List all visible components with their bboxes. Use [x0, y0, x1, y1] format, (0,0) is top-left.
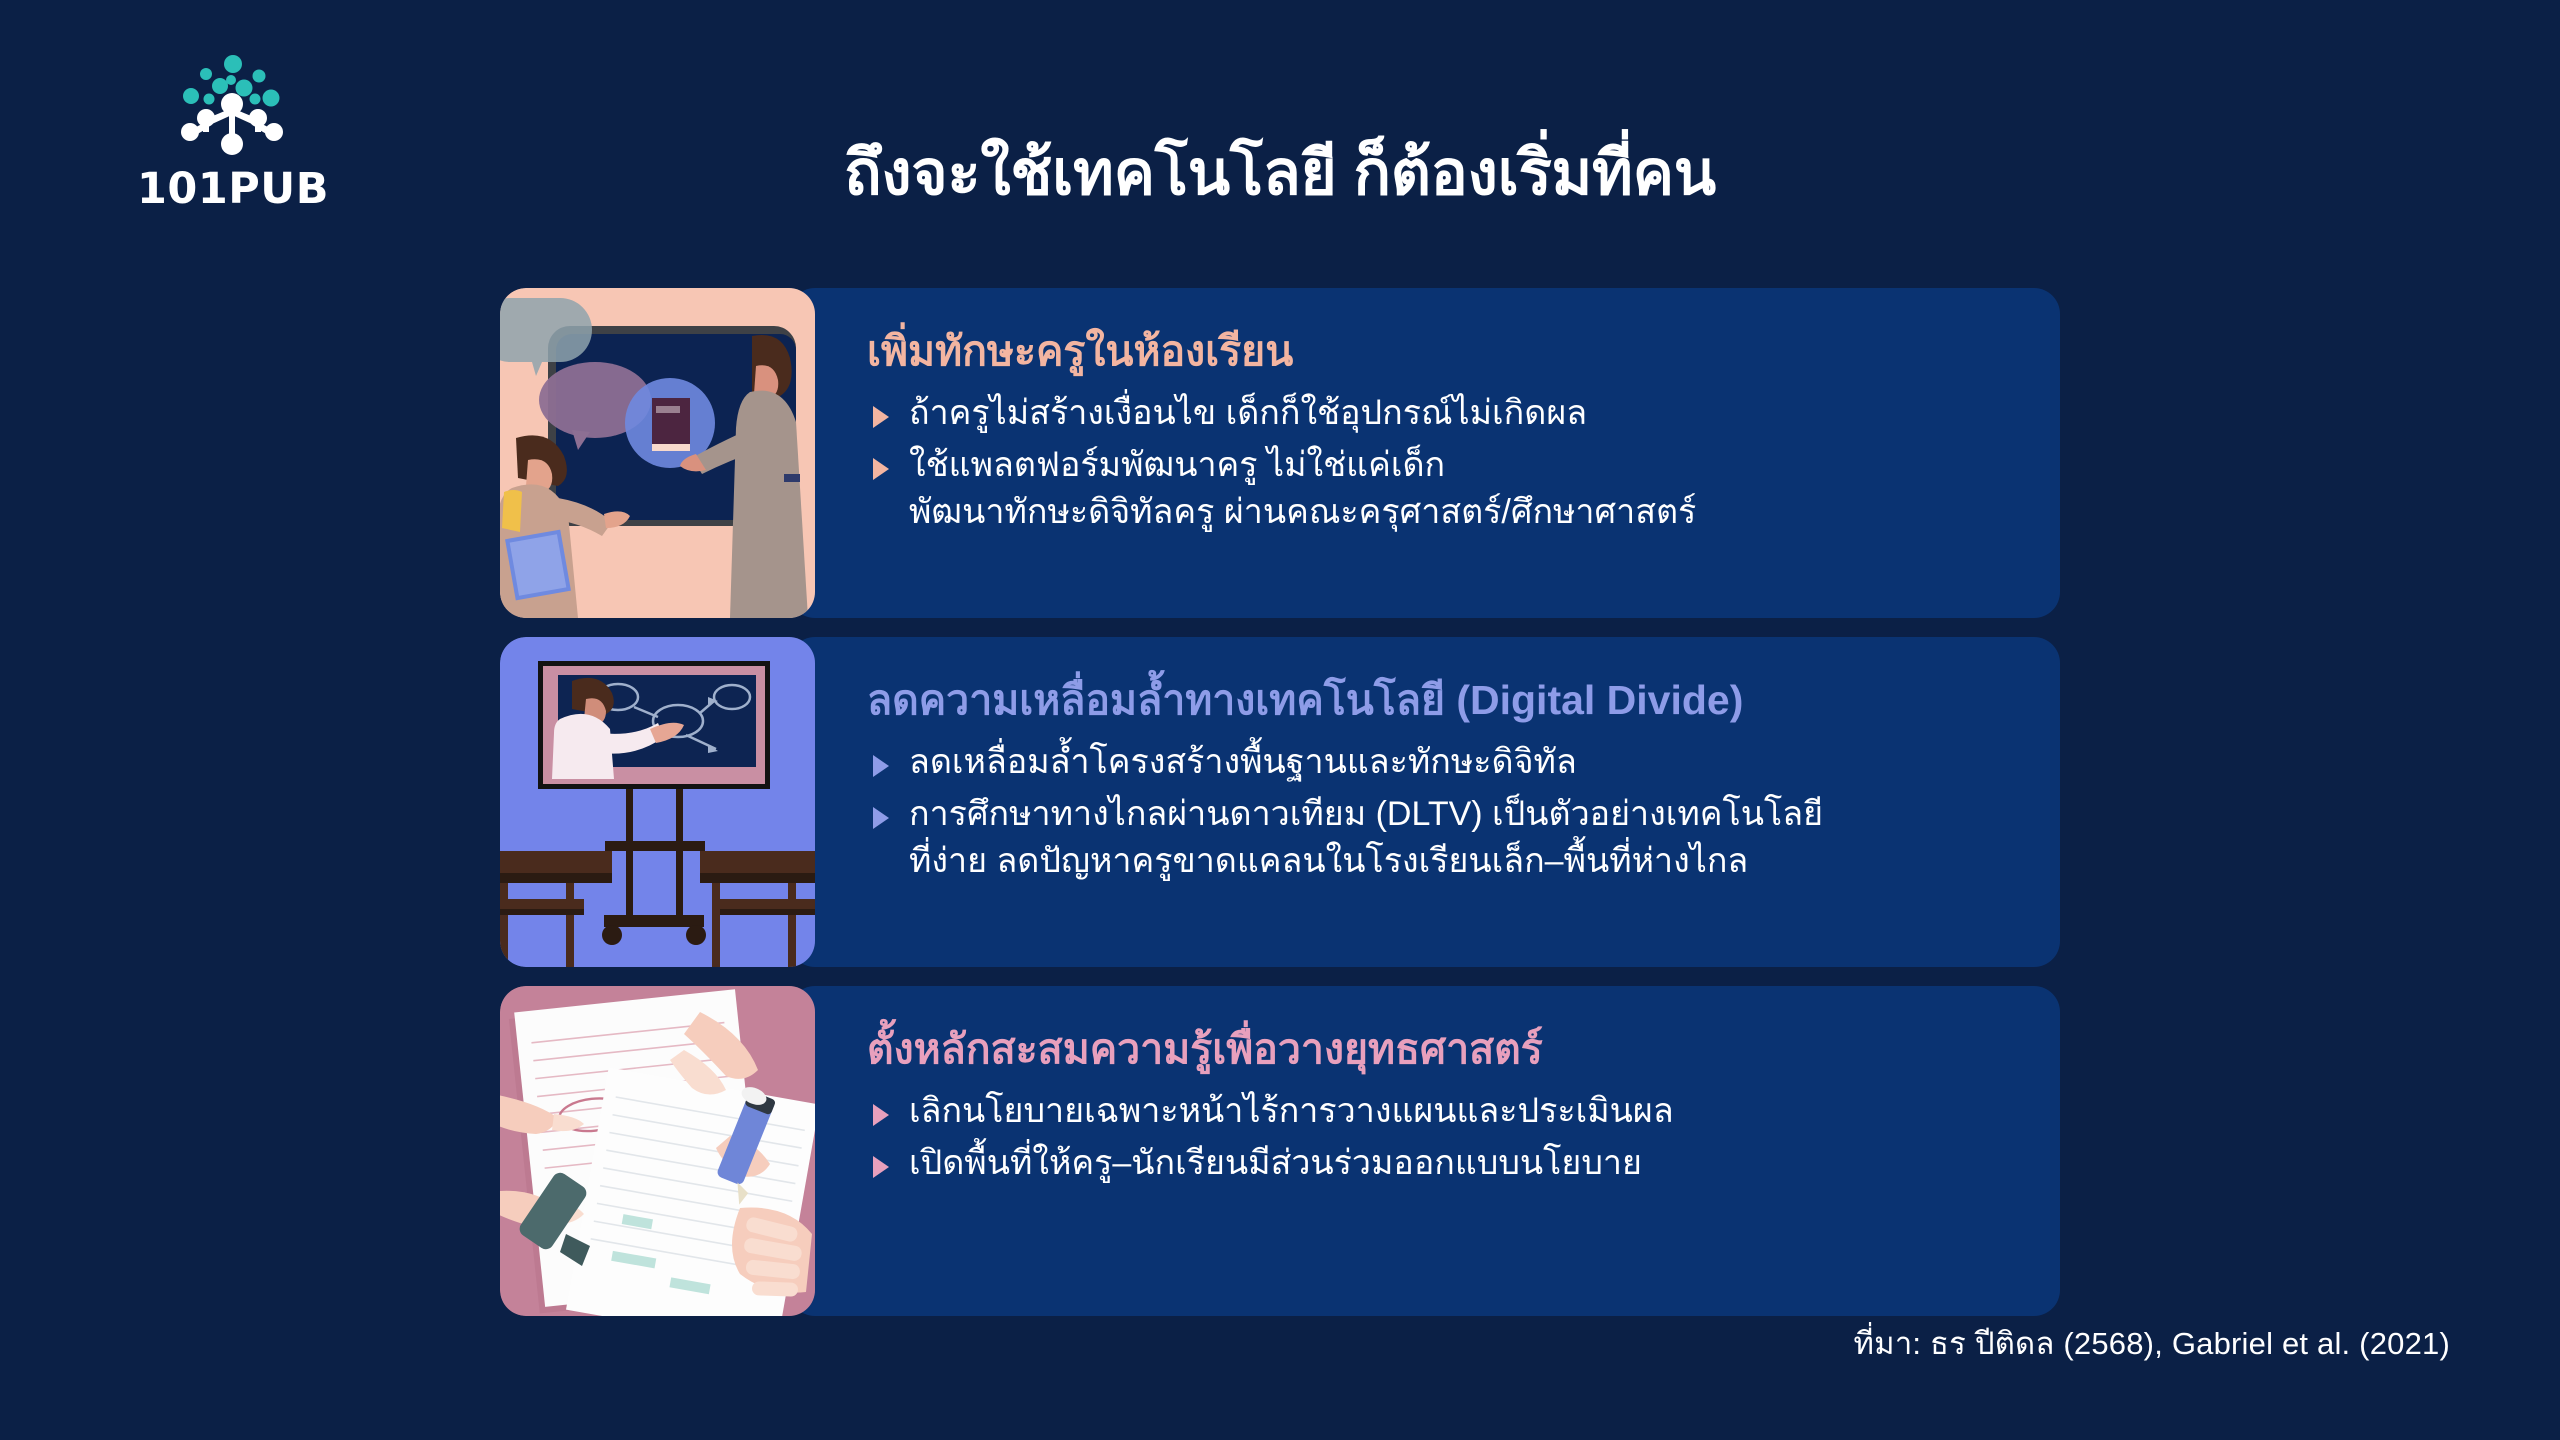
- bullet-item: เปิดพื้นที่ให้ครู–นักเรียนมีส่วนร่วมออกแ…: [867, 1140, 2006, 1188]
- triangle-bullet-icon: [873, 458, 889, 480]
- triangle-bullet-icon: [873, 1156, 889, 1178]
- triangle-bullet-icon: [873, 1104, 889, 1126]
- card-bullet-list: ถ้าครูไม่สร้างเงื่อนไข เด็กก็ใช้อุปกรณ์ไ…: [867, 390, 2006, 541]
- bullet-item: เลิกนโยบายเฉพาะหน้าไร้การวางแผนและประเมิ…: [867, 1088, 2006, 1136]
- cards-container: เพิ่มทักษะครูในห้องเรียน ถ้าครูไม่สร้างเ…: [500, 288, 2060, 1335]
- card-title: ลดความเหลื่อมล้ำทางเทคโนโลยี (Digital Di…: [867, 675, 2006, 725]
- bullet-item: ถ้าครูไม่สร้างเงื่อนไข เด็กก็ใช้อุปกรณ์ไ…: [867, 390, 2006, 438]
- triangle-bullet-icon: [873, 755, 889, 777]
- card-body: เพิ่มทักษะครูในห้องเรียน ถ้าครูไม่สร้างเ…: [789, 288, 2060, 618]
- card-image-distance-learning: [500, 637, 815, 967]
- bullet-text: เลิกนโยบายเฉพาะหน้าไร้การวางแผนและประเมิ…: [909, 1092, 1674, 1130]
- bullet-item: การศึกษาทางไกลผ่านดาวเทียม (DLTV) เป็นตั…: [867, 791, 2006, 886]
- card-image-hands-documents: [500, 986, 815, 1316]
- triangle-bullet-icon: [873, 406, 889, 428]
- brand-logo: 101PUB: [118, 52, 348, 222]
- bullet-subtext: ที่ง่าย ลดปัญหาครูขาดแคลนในโรงเรียนเล็ก–…: [909, 838, 2006, 886]
- card-title: เพิ่มทักษะครูในห้องเรียน: [867, 326, 2006, 376]
- bullet-text: เปิดพื้นที่ให้ครู–นักเรียนมีส่วนร่วมออกแ…: [909, 1144, 1642, 1182]
- card-teacher-skills: เพิ่มทักษะครูในห้องเรียน ถ้าครูไม่สร้างเ…: [500, 288, 2060, 618]
- card-bullet-list: เลิกนโยบายเฉพาะหน้าไร้การวางแผนและประเมิ…: [867, 1088, 2006, 1191]
- bullet-text: การศึกษาทางไกลผ่านดาวเทียม (DLTV) เป็นตั…: [909, 795, 1823, 833]
- bullet-subtext: พัฒนาทักษะดิจิทัลครู ผ่านคณะครุศาสตร์/ศึ…: [909, 489, 2006, 537]
- card-title: ตั้งหลักสะสมความรู้เพื่อวางยุทธศาสตร์: [867, 1024, 2006, 1074]
- triangle-bullet-icon: [873, 807, 889, 829]
- bullet-item: ลดเหลื่อมล้ำโครงสร้างพื้นฐานและทักษะดิจิ…: [867, 739, 2006, 787]
- card-image-teacher-student: [500, 288, 815, 618]
- brand-wordmark: 101PUB: [118, 164, 348, 214]
- bullet-text: ลดเหลื่อมล้ำโครงสร้างพื้นฐานและทักษะดิจิ…: [909, 743, 1577, 781]
- source-citation: ที่มา: ธร ปีติดล (2568), Gabriel et al. …: [1854, 1318, 2450, 1368]
- card-knowledge-strategy: ตั้งหลักสะสมความรู้เพื่อวางยุทธศาสตร์ เล…: [500, 986, 2060, 1316]
- bullet-text: ถ้าครูไม่สร้างเงื่อนไข เด็กก็ใช้อุปกรณ์ไ…: [909, 394, 1587, 432]
- card-body: ลดความเหลื่อมล้ำทางเทคโนโลยี (Digital Di…: [789, 637, 2060, 967]
- card-digital-divide: ลดความเหลื่อมล้ำทางเทคโนโลยี (Digital Di…: [500, 637, 2060, 967]
- page-title: ถึงจะใช้เทคโนโลยี ก็ต้องเริ่มที่คน: [400, 138, 2160, 209]
- network-nodes-logo-icon: [158, 52, 308, 162]
- bullet-item: ใช้แพลตฟอร์มพัฒนาครู ไม่ใช่แค่เด็ก พัฒนา…: [867, 442, 2006, 537]
- card-bullet-list: ลดเหลื่อมล้ำโครงสร้างพื้นฐานและทักษะดิจิ…: [867, 739, 2006, 890]
- bullet-text: ใช้แพลตฟอร์มพัฒนาครู ไม่ใช่แค่เด็ก: [909, 446, 1445, 484]
- card-body: ตั้งหลักสะสมความรู้เพื่อวางยุทธศาสตร์ เล…: [789, 986, 2060, 1316]
